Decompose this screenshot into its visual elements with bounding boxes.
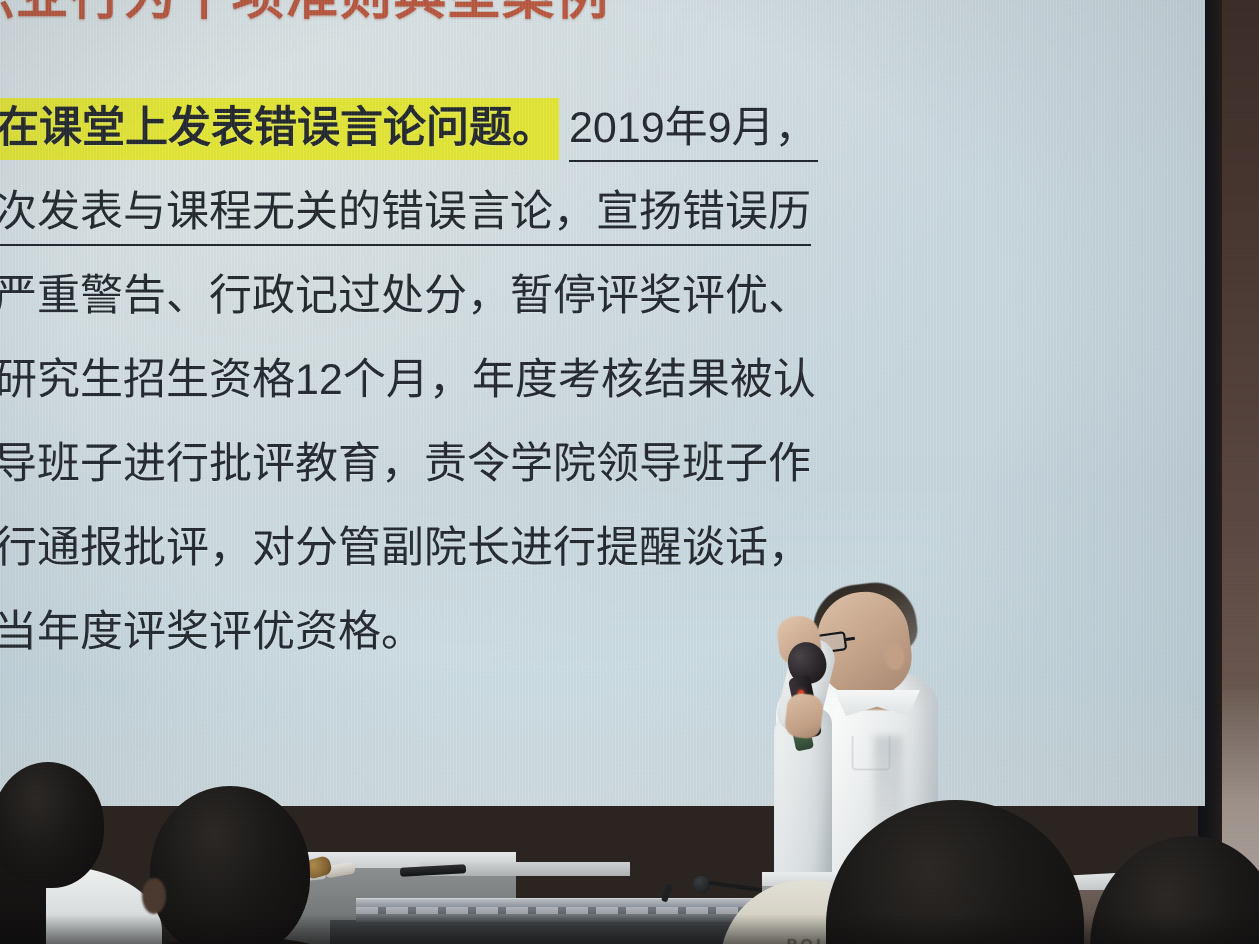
slide-line-6: 记进行通报批评，对分管副院长进行提醒谈话， [0, 506, 1205, 590]
slide-line-4-text: 作和研究生招生资格12个月，年度考核结果被认 [0, 356, 816, 404]
presenter-shirt-pocket [852, 736, 890, 770]
gooseneck-microphone-icon [693, 876, 710, 893]
audience-member-5 [1090, 836, 1259, 944]
audience-member-4 [826, 800, 1084, 944]
audience-2-ear [142, 878, 166, 914]
slide-line-3-text: 党内严重警告、行政记过处分，暂停评奖评优、 [0, 272, 811, 320]
audience-member-2 [150, 786, 380, 944]
slide-line-1-underlined: 2019年9月， [569, 104, 818, 162]
slide-line-5: 院领导班子进行批评教育，责令学院领导班子作 [0, 422, 1205, 506]
slide-line-7: 院长当年度评奖评优资格。 [0, 590, 1205, 674]
audience-2-head [150, 786, 310, 944]
slide-title: 师职业行为十项准则典型案例 [0, 0, 1205, 29]
slide-line-2: 中多次发表与课程无关的错误言论，宣扬错误历 [0, 170, 1205, 254]
audience-5-head [1090, 836, 1259, 944]
audience-4-head [826, 800, 1084, 944]
slide-line-2-underlined: 中多次发表与课程无关的错误言论，宣扬错误历 [0, 188, 811, 246]
audience-1-head [0, 762, 104, 888]
slide-line-1: 多次在课堂上发表错误言论问题。 2019年9月， [0, 86, 1205, 170]
slide-body: 多次在课堂上发表错误言论问题。 2019年9月， 中多次发表与课程无关的错误言论… [0, 86, 1205, 674]
presenter-hand-lower [784, 692, 824, 740]
projection-screen: 师职业行为十项准则典型案例 多次在课堂上发表错误言论问题。 2019年9月， 中… [0, 0, 1205, 806]
slide-content: 师职业行为十项准则典型案例 多次在课堂上发表错误言论问题。 2019年9月， 中… [0, 0, 1205, 806]
slide-line-3: 党内严重警告、行政记过处分，暂停评奖评优、 [0, 254, 1205, 338]
photo-scene: 师职业行为十项准则典型案例 多次在课堂上发表错误言论问题。 2019年9月， 中… [0, 0, 1259, 944]
slide-line-1-highlight: 多次在课堂上发表错误言论问题。 [0, 100, 557, 158]
slide-line-6-text: 记进行通报批评，对分管副院长进行提醒谈话， [0, 524, 811, 572]
slide-line-4: 作和研究生招生资格12个月，年度考核结果被认 [0, 338, 1205, 422]
slide-line-5-text: 院领导班子进行批评教育，责令学院领导班子作 [0, 440, 811, 488]
slide-line-7-text: 院长当年度评奖评优资格。 [0, 608, 424, 656]
